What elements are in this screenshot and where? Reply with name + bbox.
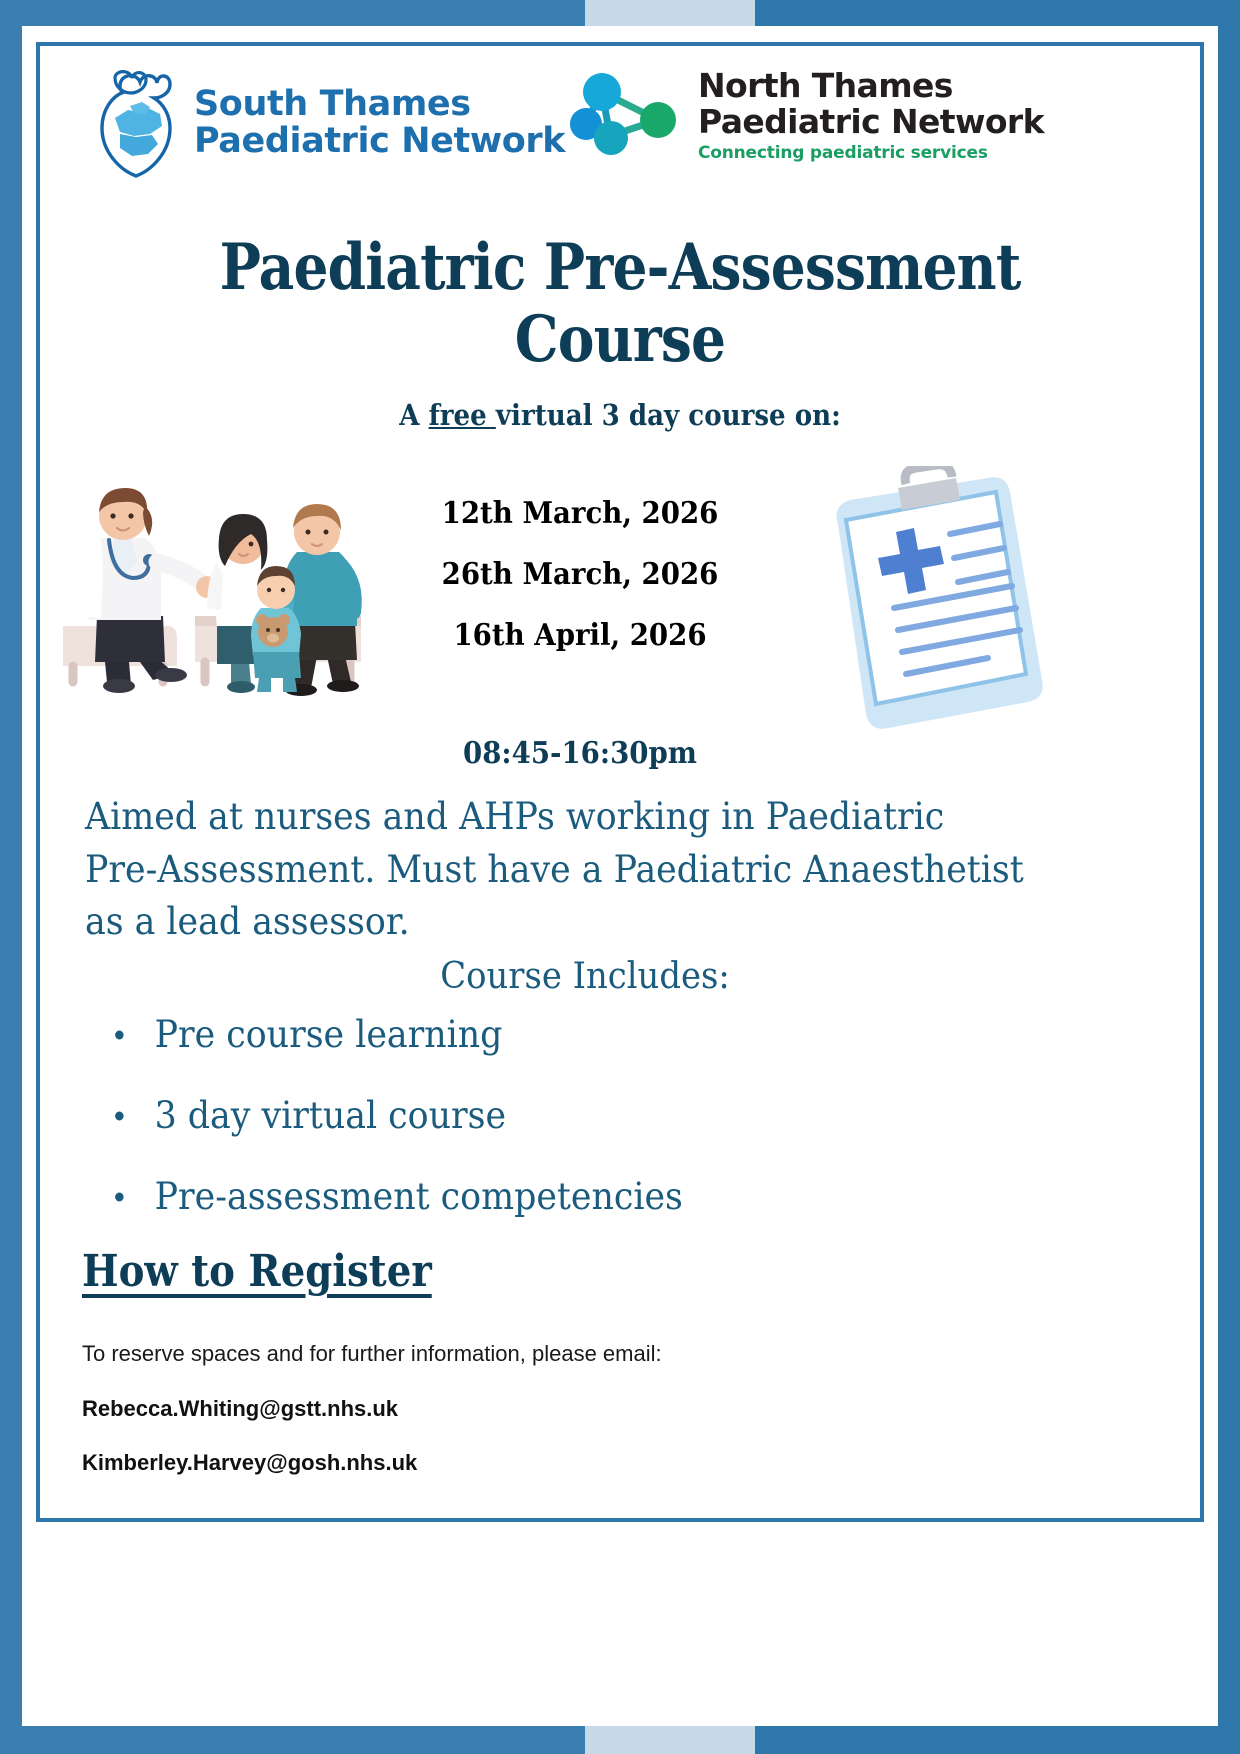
logo-row: South Thames Paediatric Network xyxy=(40,56,1200,196)
subtitle-free-emphasis: free xyxy=(429,398,496,432)
poster-content: South Thames Paediatric Network xyxy=(40,46,1200,1518)
north-thames-tagline: Connecting paediatric services xyxy=(698,143,1044,163)
north-thames-logo: North Thames Paediatric Network Connecti… xyxy=(570,60,1044,166)
course-includes-list: Pre course learning 3 day virtual course… xyxy=(70,1016,1080,1259)
bullet-dot-icon xyxy=(115,1111,123,1120)
list-item-label: Pre course learning xyxy=(155,1013,503,1056)
course-date: 16th April, 2026 xyxy=(387,618,773,653)
subtitle-suffix: virtual 3 day course on: xyxy=(496,398,841,432)
south-thames-line1: South Thames xyxy=(194,86,565,123)
medical-clipboard-illustration xyxy=(810,466,1045,766)
list-item-label: Pre-assessment competencies xyxy=(155,1175,683,1218)
poster-page: South Thames Paediatric Network xyxy=(0,0,1240,1754)
page-subtitle: A free virtual 3 day course on: xyxy=(152,398,1088,432)
contact-email[interactable]: Rebecca.Whiting@gstt.nhs.uk xyxy=(82,1396,398,1422)
list-item: Pre-assessment competencies xyxy=(70,1178,1019,1215)
north-thames-line1: North Thames xyxy=(698,68,1044,104)
list-item-label: 3 day virtual course xyxy=(155,1094,506,1137)
bullet-dot-icon xyxy=(115,1192,123,1201)
family-heart-map-icon xyxy=(90,64,182,182)
register-instruction: To reserve spaces and for further inform… xyxy=(82,1341,662,1367)
south-thames-logo: South Thames Paediatric Network xyxy=(90,64,565,182)
contact-email[interactable]: Kimberley.Harvey@gosh.nhs.uk xyxy=(82,1450,417,1476)
course-includes-heading: Course Includes: xyxy=(115,956,1055,997)
course-date: 26th March, 2026 xyxy=(387,557,773,592)
network-nodes-icon xyxy=(570,70,682,166)
bullet-dot-icon xyxy=(115,1030,123,1039)
list-item: 3 day virtual course xyxy=(70,1097,1019,1134)
doctor-consulting-family-illustration xyxy=(45,466,390,701)
north-thames-wordmark: North Thames Paediatric Network Connecti… xyxy=(698,60,1044,163)
audience-paragraph: Aimed at nurses and AHPs working in Paed… xyxy=(85,791,1025,949)
list-item: Pre course learning xyxy=(70,1016,1019,1053)
how-to-register-heading: How to Register xyxy=(82,1246,432,1297)
south-thames-wordmark: South Thames Paediatric Network xyxy=(194,86,565,160)
page-title: Paediatric Pre-Assessment Course xyxy=(173,232,1067,375)
course-dates: 12th March, 2026 26th March, 2026 16th A… xyxy=(370,496,790,679)
course-date: 12th March, 2026 xyxy=(387,496,773,531)
north-thames-line2: Paediatric Network xyxy=(698,104,1044,140)
course-time: 08:45-16:30pm xyxy=(387,736,773,771)
south-thames-line2: Paediatric Network xyxy=(194,123,565,160)
subtitle-prefix: A xyxy=(399,398,428,432)
